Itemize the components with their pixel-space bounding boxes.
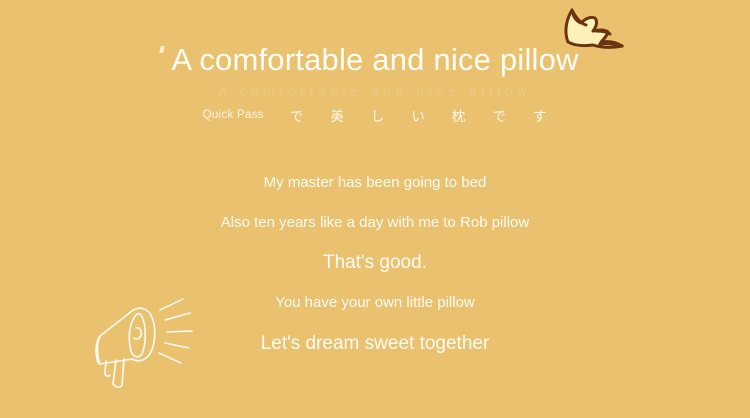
page-title-text: A comfortable and nice pillow (171, 42, 578, 77)
jp-char-1: で (290, 105, 305, 125)
spacer (0, 275, 750, 292)
body-copy: My master has been going to bed Also ten… (0, 172, 750, 356)
jp-char-7: す (533, 105, 548, 125)
jp-char-5: 枕 (452, 105, 467, 125)
page-title: A comfortable and nice pillow (171, 40, 578, 80)
jp-char-6: で (492, 105, 507, 125)
body-line-3: That's good. (0, 251, 750, 275)
headline-block: A comfortable and nice pillow (0, 40, 750, 80)
spacer (0, 194, 750, 212)
japanese-subtitle: で 美 し い 枕 で す (290, 105, 548, 125)
jp-char-4: い (411, 105, 426, 125)
headline-ghost-text: A comfortable and nice pillow (0, 84, 750, 99)
spacer (0, 234, 750, 251)
body-line-2: Also ten years like a day with me to Rob… (0, 212, 750, 234)
spacer (0, 314, 750, 332)
promo-banner: A comfortable and nice pillow A comforta… (0, 0, 750, 418)
subheading-row: Quick Pass で 美 し い 枕 で す (0, 105, 750, 125)
jp-char-3: し (371, 105, 386, 125)
body-line-1: My master has been going to bed (0, 172, 750, 194)
body-line-4: You have your own little pillow (0, 292, 750, 314)
jp-char-2: 美 (330, 105, 345, 125)
body-line-5: Let's dream sweet together (0, 332, 750, 356)
title-tick-mark (160, 46, 165, 53)
quick-pass-label: Quick Pass (203, 109, 264, 121)
